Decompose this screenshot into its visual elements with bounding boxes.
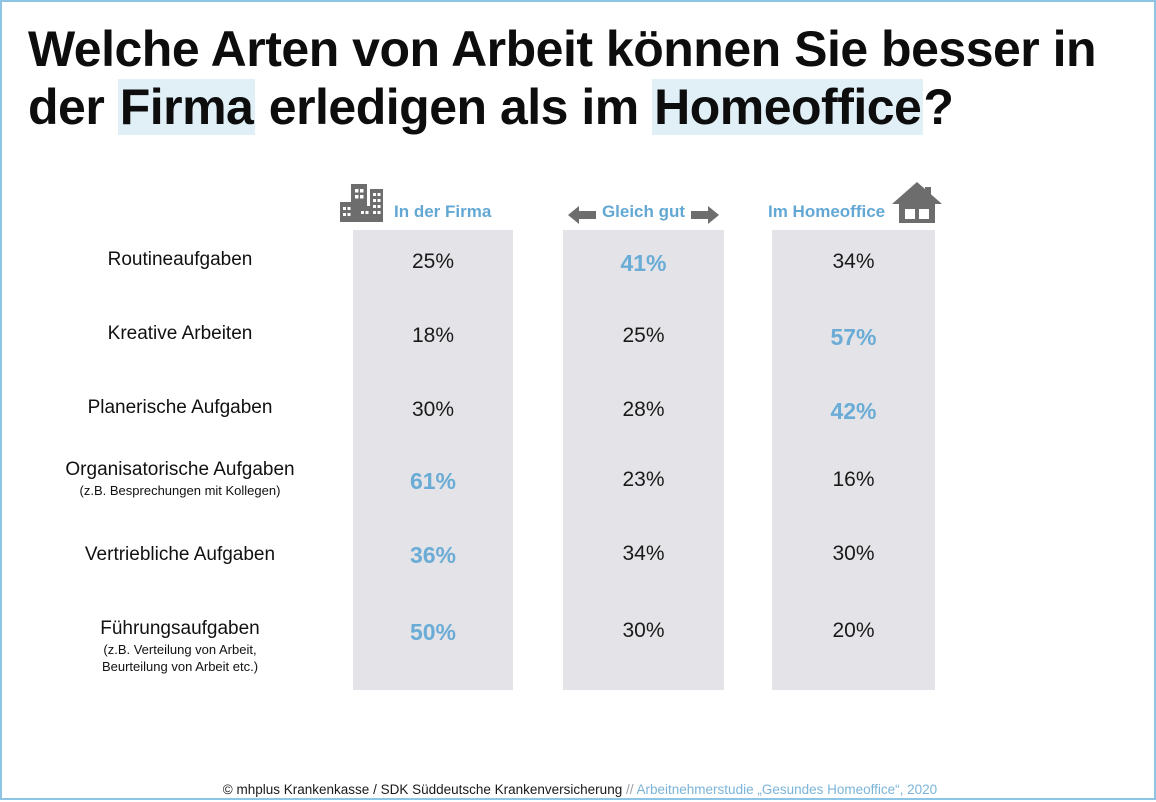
value-cell: 42%	[772, 398, 935, 425]
footer-study-name: Arbeitnehmerstudie „Gesundes Homeoffice“…	[637, 782, 938, 797]
row-label: Vertriebliche Aufgaben	[20, 543, 340, 567]
value-cell: 28%	[563, 398, 724, 422]
row-label: Organisatorische Aufgaben(z.B. Besprechu…	[20, 458, 340, 499]
table-row: Führungsaufgaben(z.B. Verteilung von Arb…	[2, 600, 1156, 674]
value-cell: 36%	[353, 542, 513, 569]
row-label: Kreative Arbeiten	[20, 322, 340, 346]
row-label-sub: (z.B. Besprechungen mit Kollegen)	[20, 482, 340, 499]
value-cell: 18%	[353, 324, 513, 348]
value-cell: 50%	[353, 619, 513, 646]
row-label: Routineaufgaben	[20, 248, 340, 272]
value-cell: 61%	[353, 468, 513, 495]
table-row: Planerische Aufgaben30%28%42%	[2, 378, 1156, 452]
value-cell: 30%	[353, 398, 513, 422]
row-label-main: Routineaufgaben	[20, 248, 340, 272]
row-label-main: Führungsaufgaben	[20, 617, 340, 641]
office-buildings-icon	[338, 180, 388, 226]
arrow-left-icon	[568, 204, 596, 226]
value-cell: 25%	[353, 250, 513, 274]
row-label-sub: Beurteilung von Arbeit etc.)	[20, 658, 340, 675]
footer-publisher: © mhplus Krankenkasse / SDK Süddeutsche …	[223, 782, 622, 797]
infographic-page: Welche Arten von Arbeit können Sie besse…	[0, 0, 1156, 800]
value-cell: 23%	[563, 468, 724, 492]
column-header-firma: In der Firma	[338, 178, 491, 226]
column-header-homeoffice: Im Homeoffice	[768, 178, 943, 226]
column-header-gleich-gut: Gleich gut	[563, 178, 724, 226]
row-label-main: Vertriebliche Aufgaben	[20, 543, 340, 567]
row-label-main: Planerische Aufgaben	[20, 396, 340, 420]
value-cell: 57%	[772, 324, 935, 351]
house-icon	[891, 180, 943, 226]
column-header-label-firma: In der Firma	[394, 202, 491, 226]
footer-credit: © mhplus Krankenkasse / SDK Süddeutsche …	[2, 782, 1156, 798]
row-label-main: Organisatorische Aufgaben	[20, 458, 340, 482]
value-cell: 30%	[772, 542, 935, 566]
value-cell: 30%	[563, 619, 724, 643]
arrow-right-icon	[691, 204, 719, 226]
table-row: Organisatorische Aufgaben(z.B. Besprechu…	[2, 452, 1156, 526]
value-cell: 16%	[772, 468, 935, 492]
column-header-label-gleich-gut: Gleich gut	[602, 202, 685, 226]
table-row: Vertriebliche Aufgaben36%34%30%	[2, 526, 1156, 600]
value-cell: 34%	[563, 542, 724, 566]
value-cell: 34%	[772, 250, 935, 274]
row-label: Führungsaufgaben(z.B. Verteilung von Arb…	[20, 617, 340, 675]
value-cell: 20%	[772, 619, 935, 643]
row-label-sub: (z.B. Verteilung von Arbeit,	[20, 641, 340, 658]
comparison-table: In der Firma Gleich gut Im Homeoffice	[2, 2, 1156, 802]
row-label: Planerische Aufgaben	[20, 396, 340, 420]
footer-separator: //	[626, 782, 634, 797]
column-header-label-homeoffice: Im Homeoffice	[768, 202, 885, 226]
table-row: Kreative Arbeiten18%25%57%	[2, 304, 1156, 378]
table-row: Routineaufgaben25%41%34%	[2, 230, 1156, 304]
row-label-main: Kreative Arbeiten	[20, 322, 340, 346]
value-cell: 41%	[563, 250, 724, 277]
value-cell: 25%	[563, 324, 724, 348]
